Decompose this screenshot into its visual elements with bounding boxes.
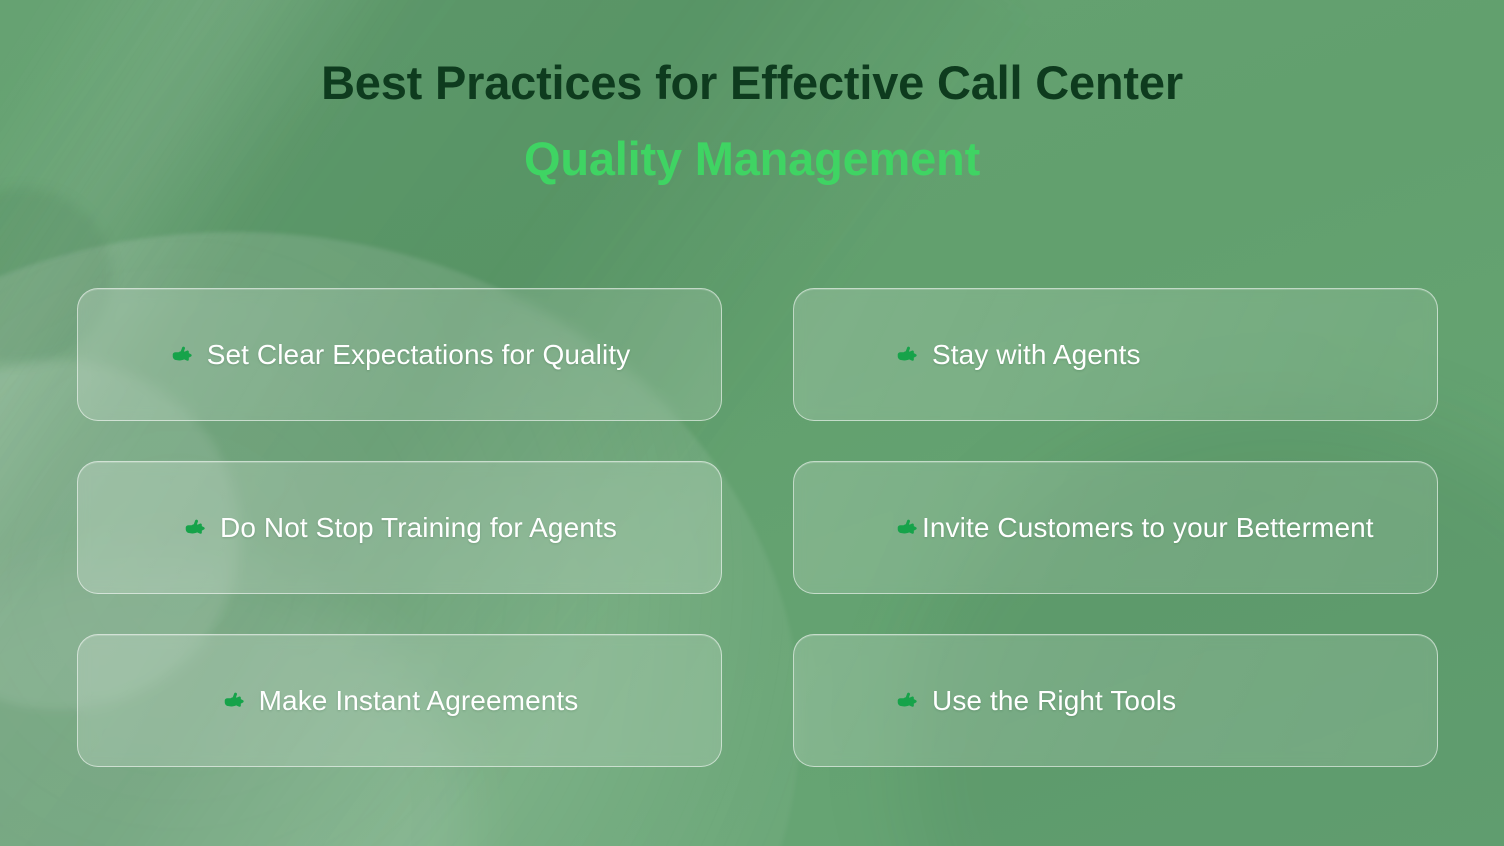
practice-card-label: Make Instant Agreements [259,685,579,717]
practice-card-do-not-stop-training[interactable]: Do Not Stop Training for Agents [77,461,722,594]
title-line-highlight: Quality Management [0,132,1504,185]
pointing-right-hand-icon [894,688,920,714]
practice-card-invite-customers[interactable]: Invite Customers to your Betterment [793,461,1438,594]
practice-card-make-instant-agreements[interactable]: Make Instant Agreements [77,634,722,767]
practice-card-stay-with-agents[interactable]: Stay with Agents [793,288,1438,421]
slide-canvas: Best Practices for Effective Call Center… [0,0,1504,846]
practice-card-label: Do Not Stop Training for Agents [220,512,617,544]
page-title: Best Practices for Effective Call Center… [0,56,1504,185]
pointing-right-hand-icon [169,342,195,368]
practice-card-label: Stay with Agents [932,339,1141,371]
pointing-right-hand-icon [894,515,920,541]
practice-card-use-the-right-tools[interactable]: Use the Right Tools [793,634,1438,767]
practice-card-set-clear-expectations[interactable]: Set Clear Expectations for Quality [77,288,722,421]
best-practices-grid: Set Clear Expectations for Quality Stay … [77,288,1438,768]
pointing-right-hand-icon [894,342,920,368]
practice-card-label: Use the Right Tools [932,685,1176,717]
pointing-right-hand-icon [221,688,247,714]
practice-card-label: Invite Customers to your Betterment [922,512,1374,544]
title-line-primary: Best Practices for Effective Call Center [0,56,1504,109]
pointing-right-hand-icon [182,515,208,541]
practice-card-label: Set Clear Expectations for Quality [207,339,631,371]
